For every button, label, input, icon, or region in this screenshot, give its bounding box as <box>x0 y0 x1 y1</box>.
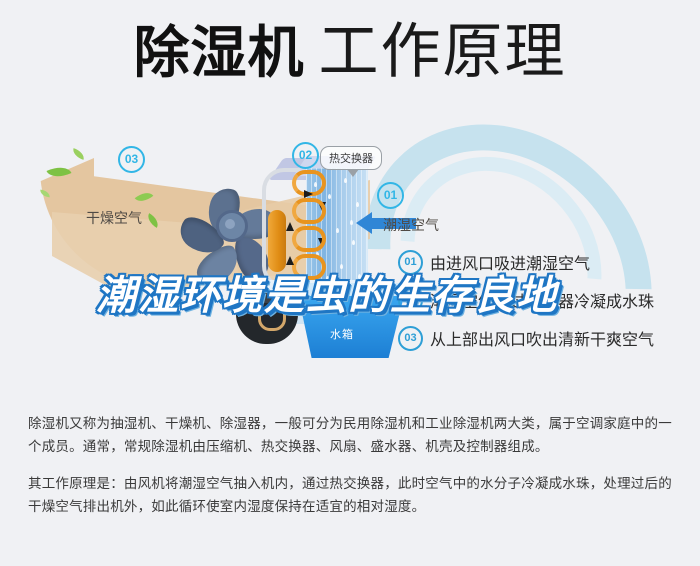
water-tank-label: 水箱 <box>330 326 354 342</box>
leaf-icon <box>71 148 86 160</box>
infographic-page: 除湿机工作原理 <box>0 0 700 566</box>
page-title: 除湿机工作原理 <box>0 22 700 82</box>
title-part-1: 除湿机 <box>134 21 305 86</box>
title-part-2: 工作原理 <box>319 18 567 85</box>
body-copy: 除湿机又称为抽湿机、干燥机、除湿器，一般可分为民用除湿机和工业除湿机两大类，属于… <box>28 412 676 532</box>
body-paragraph-1: 除湿机又称为抽湿机、干燥机、除湿器，一般可分为民用除湿机和工业除湿机两大类，属于… <box>28 412 676 458</box>
step-text: 从上部出风口吹出清新干爽空气 <box>430 326 654 350</box>
callout-label-humid-air: 潮湿空气 <box>383 215 439 235</box>
callout-number-03: 03 <box>118 146 145 173</box>
fan-hub-icon <box>216 210 248 242</box>
callout-label-dry-air: 干燥空气 <box>86 208 142 228</box>
callout-number-01: 01 <box>377 182 404 209</box>
callout-label-heat-exchanger: 热交换器 <box>320 146 382 170</box>
step-number: 03 <box>398 326 423 351</box>
step-item: 03 从上部出风口吹出清新干爽空气 <box>398 319 688 357</box>
callout-number-02: 02 <box>292 142 319 169</box>
body-paragraph-2: 其工作原理是：由风机将潮湿空气抽入机内，通过热交换器，此时空气中的水分子冷凝成水… <box>28 472 676 518</box>
overlay-headline: 潮湿环境是虫的生存良地 <box>96 263 558 321</box>
